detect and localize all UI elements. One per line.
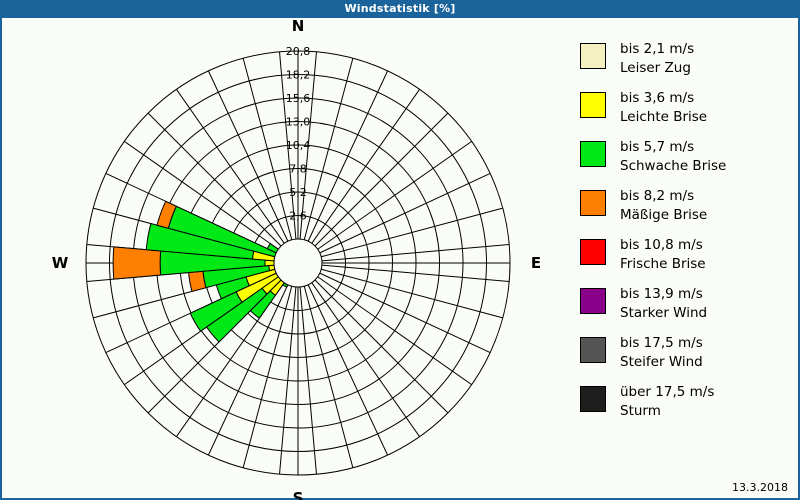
grid-spoke	[243, 286, 292, 468]
window-title: Windstatistik [%]	[344, 2, 455, 15]
radial-tick-label: 10,4	[286, 139, 311, 152]
legend-color-swatch	[580, 190, 606, 216]
petal-segment	[189, 271, 206, 291]
legend-speed: bis 17,5 m/s	[620, 334, 703, 353]
legend-color-swatch	[580, 239, 606, 265]
grid-spoke	[315, 280, 448, 413]
legend-label: bis 10,8 m/sFrische Brise	[620, 236, 706, 274]
legend: bis 2,1 m/sLeiser Zugbis 3,6 m/sLeichte …	[580, 40, 795, 432]
windstatistik-window: Windstatistik [%] 2,65,27,810,413,015,61…	[0, 0, 800, 500]
grid-spoke	[243, 58, 292, 240]
grid-spoke	[208, 71, 287, 241]
cardinal-label-w: W	[52, 254, 69, 272]
legend-color-swatch	[580, 43, 606, 69]
legend-name: Leichte Brise	[620, 108, 707, 127]
legend-label: bis 3,6 m/sLeichte Brise	[620, 89, 707, 127]
radial-tick-label: 2,6	[289, 210, 307, 223]
legend-name: Schwache Brise	[620, 157, 726, 176]
grid-spoke	[308, 285, 387, 455]
legend-speed: bis 5,7 m/s	[620, 138, 726, 157]
cardinal-label-e: E	[531, 254, 541, 272]
legend-color-swatch	[580, 141, 606, 167]
legend-speed: bis 2,1 m/s	[620, 40, 694, 59]
radial-tick-label: 5,2	[289, 186, 307, 199]
radial-tick-label: 15,6	[286, 92, 311, 105]
calm-center-circle	[274, 239, 322, 287]
legend-color-swatch	[580, 92, 606, 118]
radial-tick-label: 7,8	[289, 163, 307, 176]
grid-spoke	[304, 286, 353, 468]
window-content: 2,65,27,810,413,015,618,220,8NESW bis 2,…	[0, 18, 800, 500]
legend-item[interactable]: bis 8,2 m/sMäßige Brise	[580, 187, 795, 230]
petal-segment	[113, 247, 161, 279]
legend-item[interactable]: bis 17,5 m/sSteifer Wind	[580, 334, 795, 377]
legend-speed: bis 13,9 m/s	[620, 285, 707, 304]
legend-item[interactable]: bis 13,9 m/sStarker Wind	[580, 285, 795, 328]
date-stamp: 13.3.2018	[732, 481, 788, 494]
legend-label: bis 2,1 m/sLeiser Zug	[620, 40, 694, 78]
cardinal-label-s: S	[293, 489, 304, 500]
wind-rose-svg: 2,65,27,810,413,015,618,220,8NESW	[2, 18, 562, 500]
legend-color-swatch	[580, 288, 606, 314]
legend-label: bis 17,5 m/sSteifer Wind	[620, 334, 703, 372]
calm-circle	[274, 239, 322, 287]
legend-item[interactable]: bis 2,1 m/sLeiser Zug	[580, 40, 795, 83]
legend-name: Sturm	[620, 402, 714, 421]
legend-name: Leiser Zug	[620, 59, 694, 78]
grid-spoke	[320, 273, 490, 352]
legend-speed: über 17,5 m/s	[620, 383, 714, 402]
legend-speed: bis 3,6 m/s	[620, 89, 707, 108]
legend-color-swatch	[580, 337, 606, 363]
radial-tick-label: 13,0	[286, 116, 311, 129]
wind-rose-petals	[113, 201, 288, 342]
legend-item[interactable]: bis 10,8 m/sFrische Brise	[580, 236, 795, 279]
legend-color-swatch	[580, 386, 606, 412]
legend-label: bis 5,7 m/sSchwache Brise	[620, 138, 726, 176]
window-titlebar: Windstatistik [%]	[0, 0, 800, 18]
legend-label: bis 13,9 m/sStarker Wind	[620, 285, 707, 323]
legend-name: Steifer Wind	[620, 353, 703, 372]
legend-item[interactable]: bis 5,7 m/sSchwache Brise	[580, 138, 795, 181]
radial-tick-label: 20,8	[286, 45, 311, 58]
cardinal-label-n: N	[292, 18, 305, 35]
legend-name: Frische Brise	[620, 255, 706, 274]
legend-label: über 17,5 m/sSturm	[620, 383, 714, 421]
legend-item[interactable]: über 17,5 m/sSturm	[580, 383, 795, 426]
grid-spoke	[308, 71, 387, 241]
grid-spoke	[315, 113, 448, 246]
grid-spoke	[320, 173, 490, 252]
legend-speed: bis 8,2 m/s	[620, 187, 707, 206]
wind-rose-chart: 2,65,27,810,413,015,618,220,8NESW	[2, 18, 562, 500]
legend-label: bis 8,2 m/sMäßige Brise	[620, 187, 707, 225]
legend-speed: bis 10,8 m/s	[620, 236, 706, 255]
legend-item[interactable]: bis 3,6 m/sLeichte Brise	[580, 89, 795, 132]
legend-name: Starker Wind	[620, 304, 707, 323]
grid-spoke	[304, 58, 353, 240]
legend-name: Mäßige Brise	[620, 206, 707, 225]
radial-tick-label: 18,2	[286, 69, 311, 82]
grid-spoke	[321, 208, 503, 257]
grid-spoke	[321, 269, 503, 318]
